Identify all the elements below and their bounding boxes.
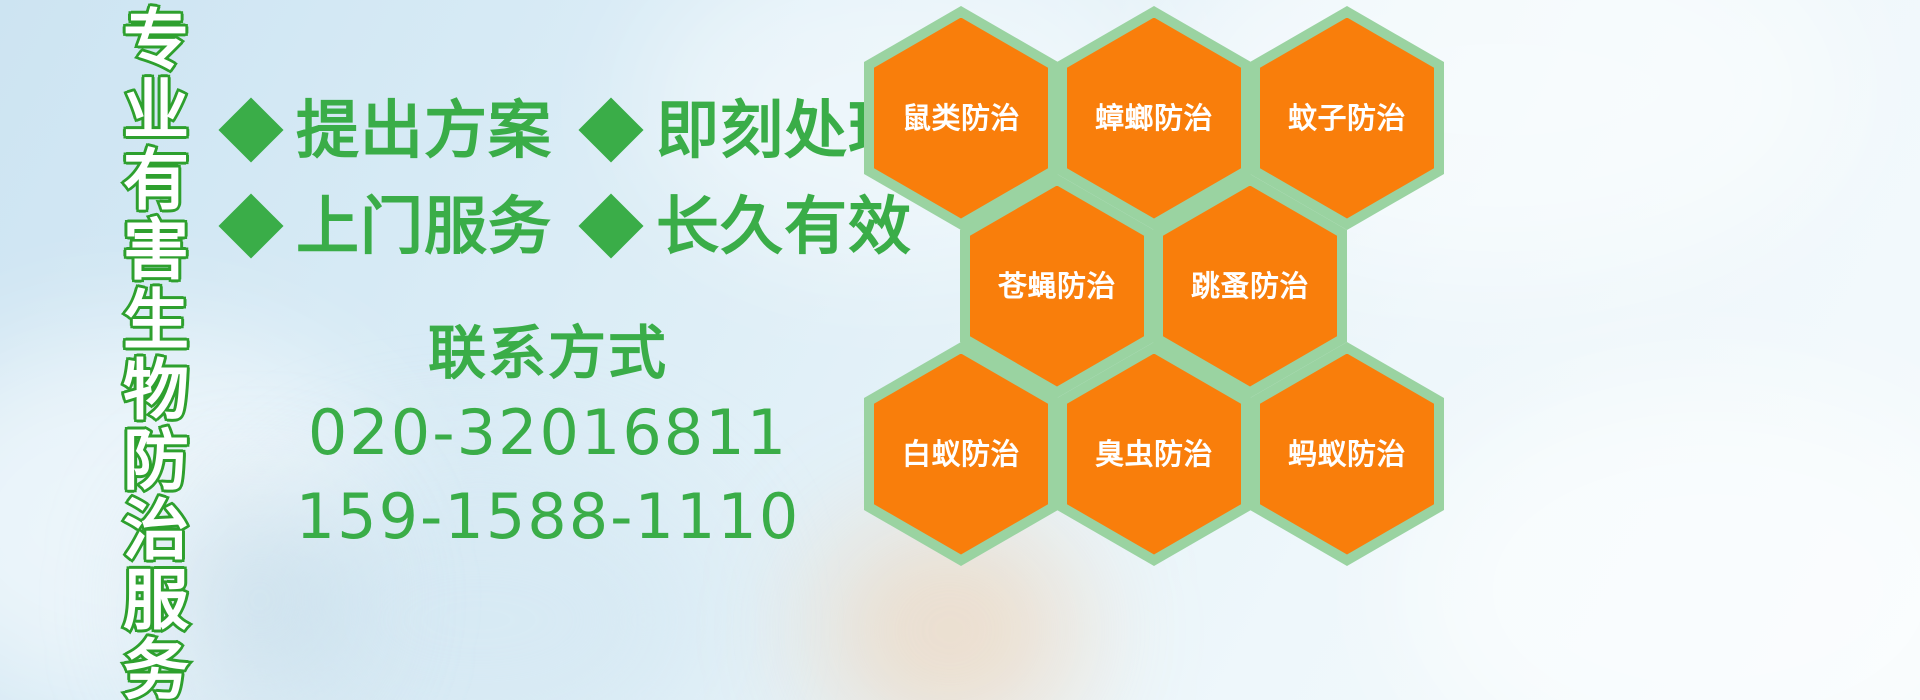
contact-block: 联系方式 020-32016811 159-1588-1110 (228, 315, 868, 559)
service-label: 蟑螂防治 (1095, 104, 1213, 133)
service-hexagon-grid: 鼠类防治 蟑螂防治 蚊子防治 苍蝇防治 跳蚤防治 白蚁防治 (858, 0, 1458, 558)
vertical-headline-char: 害 (123, 216, 189, 286)
vertical-headline: 专 业 有 害 生 物 防 治 服 务 (104, 6, 208, 696)
feature-row: 提出方案 即刻处理 (228, 82, 868, 178)
hex-inner-fill: 苍蝇防治 (970, 186, 1144, 387)
service-label: 臭虫防治 (1095, 440, 1213, 469)
hex-inner-fill: 臭虫防治 (1067, 354, 1241, 555)
vertical-headline-char: 服 (123, 566, 189, 636)
hex-inner-fill: 蚊子防治 (1260, 18, 1434, 219)
service-label: 鼠类防治 (902, 104, 1020, 133)
feature-row: 上门服务 长久有效 (228, 178, 868, 274)
service-label: 蚊子防治 (1288, 104, 1406, 133)
diamond-icon (218, 193, 283, 258)
service-label: 白蚁防治 (902, 440, 1020, 469)
promotional-banner: 专 业 有 害 生 物 防 治 服 务 提出方案 即刻处理 上门服务 (0, 0, 1920, 700)
background-blur-blob (1400, 380, 1920, 700)
vertical-headline-char: 防 (123, 426, 189, 496)
diamond-icon (578, 97, 643, 162)
phone-mobile[interactable]: 159-1588-1110 (228, 475, 868, 559)
hex-inner-fill: 蚂蚁防治 (1260, 354, 1434, 555)
vertical-headline-char: 务 (123, 636, 189, 700)
hex-inner-fill: 蟑螂防治 (1067, 18, 1241, 219)
vertical-headline-char: 专 (123, 6, 189, 76)
service-label: 苍蝇防治 (998, 272, 1116, 301)
hex-inner-fill: 鼠类防治 (874, 18, 1048, 219)
vertical-headline-char: 治 (123, 496, 189, 566)
feature-label: 上门服务 (296, 195, 552, 258)
diamond-icon (578, 193, 643, 258)
vertical-headline-char: 物 (123, 356, 189, 426)
hex-inner-fill: 跳蚤防治 (1163, 186, 1337, 387)
feature-item-propose-plan: 提出方案 (228, 99, 552, 162)
service-label: 跳蚤防治 (1191, 272, 1309, 301)
contact-label: 联系方式 (228, 315, 868, 391)
phone-landline[interactable]: 020-32016811 (228, 391, 868, 475)
hex-inner-fill: 白蚁防治 (874, 354, 1048, 555)
feature-item-onsite-service: 上门服务 (228, 195, 552, 258)
vertical-headline-char: 生 (123, 286, 189, 356)
vertical-headline-char: 业 (123, 76, 189, 146)
feature-list: 提出方案 即刻处理 上门服务 长久有效 (228, 82, 868, 274)
feature-label: 提出方案 (296, 99, 552, 162)
vertical-headline-char: 有 (123, 146, 189, 216)
diamond-icon (218, 97, 283, 162)
service-label: 蚂蚁防治 (1288, 440, 1406, 469)
